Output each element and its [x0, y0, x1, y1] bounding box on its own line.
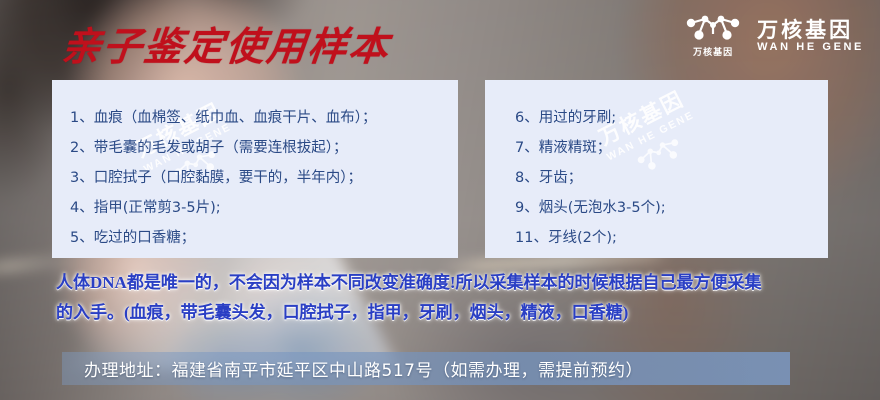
brand-name-en: WAN HE GENE: [757, 42, 864, 53]
molecule-icon: [683, 14, 743, 42]
list-item: 7、精液精斑；: [515, 133, 828, 163]
list-item: 2、带毛囊的毛发或胡子（需要连根拔起）；: [70, 133, 458, 163]
list-item: 4、指甲(正常剪3-5片);: [70, 193, 458, 223]
page-title: 亲子鉴定使用样本: [59, 16, 393, 72]
brand-mark: 万核基因: [683, 14, 743, 58]
list-item: 8、牙齿；: [515, 163, 828, 193]
sample-list-right: 6、用过的牙刷; 7、精液精斑； 8、牙齿； 9、烟头(无泡水3-5个); 11…: [485, 80, 828, 253]
list-item: 1、血痕（血棉签、纸巾血、血痕干片、血布）；: [70, 103, 458, 133]
sample-list-panel-right: 万核基因 WAN HE GENE 6、用过的牙刷: [485, 80, 828, 258]
brand-wordmark: 万核基因 WAN HE GENE: [757, 20, 864, 53]
brand-mark-label: 万核基因: [693, 45, 733, 58]
list-item: 9、烟头(无泡水3-5个);: [515, 193, 828, 223]
address-bar: 办理地址：福建省南平市延平区中山路517号（如需办理，需提前预约）: [62, 352, 790, 385]
paragraph-line-1: 人体DNA都是唯一的，不会因为样本不同改变准确度!所以采集样本的时候根据自己最方…: [56, 268, 846, 298]
poster-root: 亲子鉴定使用样本: [0, 0, 880, 400]
sample-list-left: 1、血痕（血棉签、纸巾血、血痕干片、血布）； 2、带毛囊的毛发或胡子（需要连根拔…: [52, 80, 458, 253]
address-text: 办理地址：福建省南平市延平区中山路517号（如需办理，需提前预约）: [84, 356, 643, 381]
list-item: 3、口腔拭子（口腔黏膜，要干的，半年内）；: [70, 163, 458, 193]
brand-name-cn: 万核基因: [757, 20, 864, 41]
sample-list-panel-left: 万核基因 WAN HE GENE 1、血痕（血棉: [52, 80, 458, 258]
list-item: 6、用过的牙刷;: [515, 103, 828, 133]
paragraph-line-2: 的入手。(血痕，带毛囊头发，口腔拭子，指甲，牙刷，烟头，精液，口香糖): [56, 298, 846, 328]
brand-lockup: 万核基因 万核基因 WAN HE GENE: [683, 14, 864, 58]
list-item: 11、牙线(2个);: [515, 223, 828, 253]
explanation-paragraph: 人体DNA都是唯一的，不会因为样本不同改变准确度!所以采集样本的时候根据自己最方…: [56, 268, 846, 328]
list-item: 5、吃过的口香糖；: [70, 223, 458, 253]
